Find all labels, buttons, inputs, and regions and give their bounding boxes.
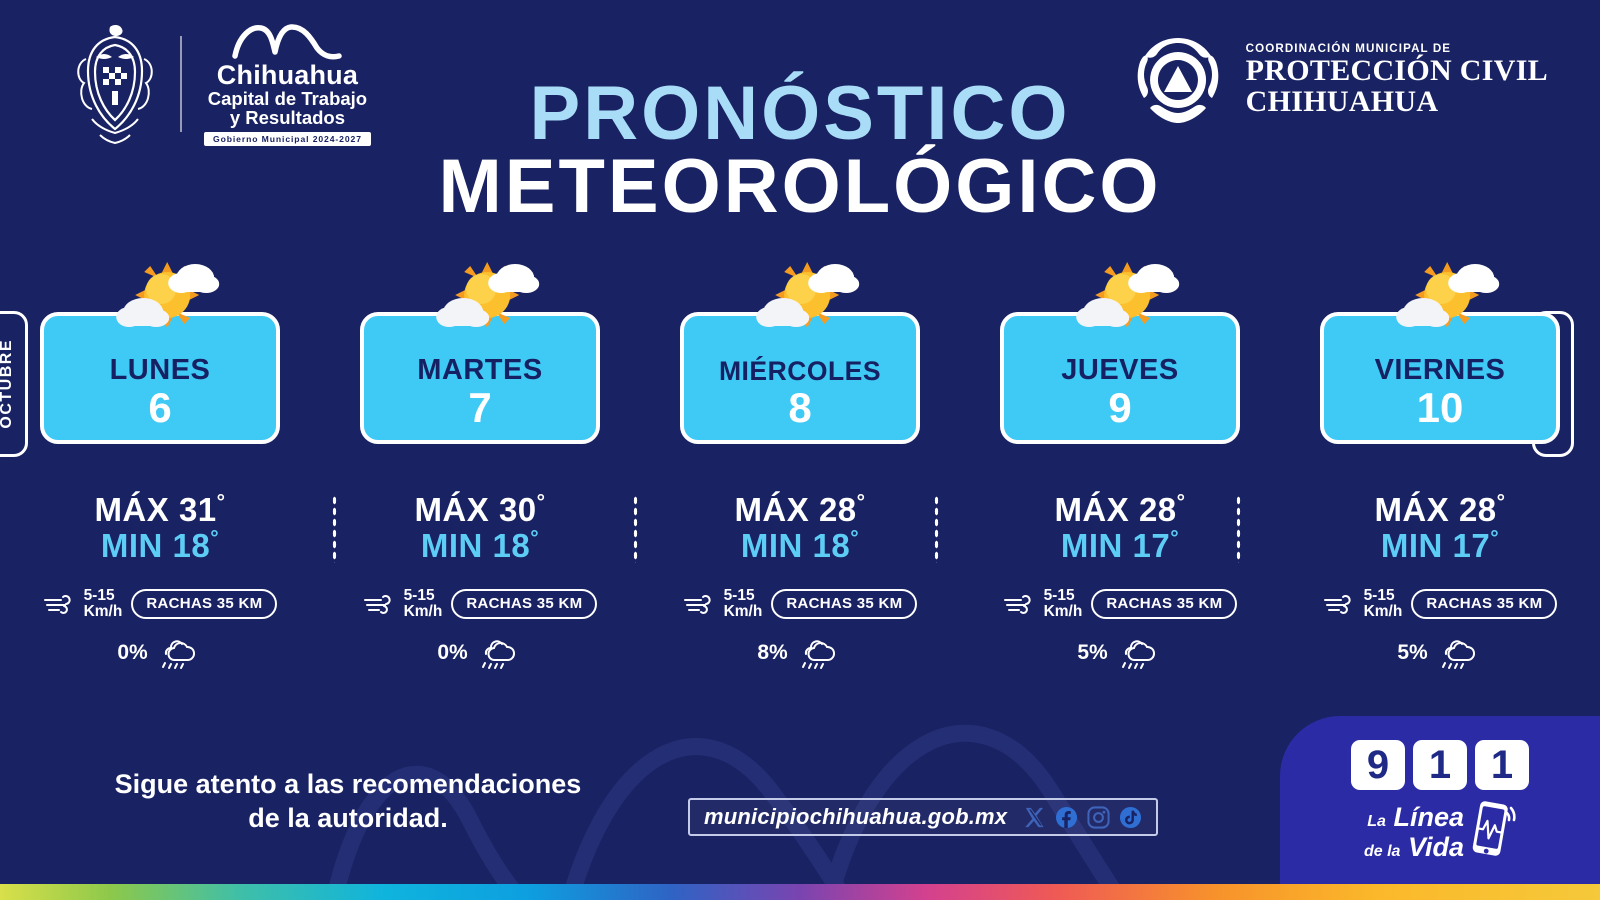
instagram-icon[interactable] bbox=[1087, 806, 1110, 829]
rain-block: 5% bbox=[1077, 636, 1162, 670]
forecast-day-column: MIÉRCOLES 8 MÁX 28° MIN 18° 5-15Km/h bbox=[640, 250, 960, 670]
sun-behind-cloud-icon bbox=[1387, 250, 1507, 346]
title-line-2: METEOROLÓGICO bbox=[0, 151, 1600, 224]
forecast-poster: Chihuahua Capital de Trabajo y Resultado… bbox=[0, 0, 1600, 900]
rain-block: 0% bbox=[117, 636, 202, 670]
max-temp: MÁX 31° bbox=[94, 492, 225, 528]
day-date: 9 bbox=[1108, 386, 1131, 430]
social-icons bbox=[1023, 806, 1142, 829]
day-date: 10 bbox=[1417, 386, 1464, 430]
gust-badge: RACHAS 35 KM bbox=[771, 589, 917, 619]
day-name: MARTES bbox=[417, 356, 542, 385]
emergency-digit: 9 bbox=[1351, 740, 1405, 790]
day-name: MIÉRCOLES bbox=[719, 358, 881, 385]
rain-block: 8% bbox=[757, 636, 842, 670]
page-title: PRONÓSTICO METEOROLÓGICO bbox=[0, 78, 1600, 224]
gust-badge: RACHAS 35 KM bbox=[451, 589, 597, 619]
day-date: 7 bbox=[468, 386, 491, 430]
tiktok-icon[interactable] bbox=[1119, 806, 1142, 829]
min-temp: MIN 17° bbox=[1374, 528, 1505, 564]
sun-behind-cloud-icon bbox=[107, 250, 227, 346]
day-date: 6 bbox=[148, 386, 171, 430]
day-name: VIERNES bbox=[1375, 356, 1506, 385]
gust-badge: RACHAS 35 KM bbox=[1091, 589, 1237, 619]
x-twitter-icon[interactable] bbox=[1023, 806, 1046, 829]
forecast-day-column: LUNES 6 MÁX 31° MIN 18° 5-15Km/h RA bbox=[0, 250, 320, 670]
min-temp: MIN 18° bbox=[94, 528, 225, 564]
forecast-row: LUNES 6 MÁX 31° MIN 18° 5-15Km/h RA bbox=[0, 250, 1600, 670]
rain-chance: 8% bbox=[757, 641, 787, 665]
temperature-block: MÁX 28° MIN 17° bbox=[1054, 492, 1185, 564]
mountain-peaks-icon bbox=[229, 22, 345, 60]
rain-chance: 0% bbox=[437, 641, 467, 665]
rain-chance: 5% bbox=[1397, 641, 1427, 665]
tagline-vida: Vida bbox=[1408, 832, 1464, 862]
max-temp: MÁX 28° bbox=[1054, 492, 1185, 528]
sun-behind-cloud-icon bbox=[427, 250, 547, 346]
wind-icon bbox=[363, 593, 395, 615]
forecast-day-column: JUEVES 9 MÁX 28° MIN 17° 5-15Km/h R bbox=[960, 250, 1280, 670]
emergency-tagline: La Línea de la Vida bbox=[1364, 799, 1516, 861]
wind-speed: 5-15Km/h bbox=[724, 588, 763, 620]
website-bar[interactable]: municipiochihuahua.gob.mx bbox=[688, 798, 1158, 836]
temperature-block: MÁX 28° MIN 18° bbox=[734, 492, 865, 564]
gust-badge: RACHAS 35 KM bbox=[1411, 589, 1557, 619]
sun-behind-cloud-icon bbox=[1067, 250, 1187, 346]
wind-speed: 5-15Km/h bbox=[1044, 588, 1083, 620]
facebook-icon[interactable] bbox=[1055, 806, 1078, 829]
day-name: JUEVES bbox=[1061, 356, 1178, 385]
rain-cloud-icon bbox=[157, 636, 203, 670]
emergency-number: 9 1 1 bbox=[1351, 740, 1529, 790]
wind-block: 5-15Km/h RACHAS 35 KM bbox=[363, 588, 598, 620]
forecast-day-column: MARTES 7 MÁX 30° MIN 18° 5-15Km/h R bbox=[320, 250, 640, 670]
wind-block: 5-15Km/h RACHAS 35 KM bbox=[43, 588, 278, 620]
recommendation-line-1: Sigue atento a las recomendaciones bbox=[78, 768, 618, 802]
rain-cloud-icon bbox=[1437, 636, 1483, 670]
forecast-day-column: VIERNES 10 MÁX 28° MIN 17° 5-15Km/h bbox=[1280, 250, 1600, 670]
wind-icon bbox=[1003, 593, 1035, 615]
temperature-block: MÁX 30° MIN 18° bbox=[414, 492, 545, 564]
min-temp: MIN 18° bbox=[414, 528, 545, 564]
recommendation-message: Sigue atento a las recomendaciones de la… bbox=[78, 768, 618, 836]
emergency-digit: 1 bbox=[1475, 740, 1529, 790]
max-temp: MÁX 28° bbox=[1374, 492, 1505, 528]
day-date: 8 bbox=[788, 386, 811, 430]
rainbow-accent-bar bbox=[0, 884, 1600, 900]
rain-block: 5% bbox=[1397, 636, 1482, 670]
recommendation-line-2: de la autoridad. bbox=[78, 802, 618, 836]
temperature-block: MÁX 31° MIN 18° bbox=[94, 492, 225, 564]
wind-speed: 5-15Km/h bbox=[404, 588, 443, 620]
wind-block: 5-15Km/h RACHAS 35 KM bbox=[1003, 588, 1238, 620]
sun-behind-cloud-icon bbox=[747, 250, 867, 346]
tagline-linea: Línea bbox=[1393, 802, 1464, 832]
wind-icon bbox=[1323, 593, 1355, 615]
wind-block: 5-15Km/h RACHAS 35 KM bbox=[683, 588, 918, 620]
phone-pulse-icon bbox=[1470, 799, 1516, 861]
website-url[interactable]: municipiochihuahua.gob.mx bbox=[704, 804, 1007, 830]
emergency-digit: 1 bbox=[1413, 740, 1467, 790]
tagline-dela: de la bbox=[1364, 843, 1400, 860]
max-temp: MÁX 30° bbox=[414, 492, 545, 528]
emergency-911-panel: 9 1 1 La Línea de la Vida bbox=[1280, 716, 1600, 884]
wind-icon bbox=[683, 593, 715, 615]
min-temp: MIN 17° bbox=[1054, 528, 1185, 564]
min-temp: MIN 18° bbox=[734, 528, 865, 564]
rain-cloud-icon bbox=[477, 636, 523, 670]
wind-speed: 5-15Km/h bbox=[1364, 588, 1403, 620]
wind-speed: 5-15Km/h bbox=[84, 588, 123, 620]
day-name: LUNES bbox=[110, 356, 211, 385]
wind-block: 5-15Km/h RACHAS 35 KM bbox=[1323, 588, 1558, 620]
rain-chance: 0% bbox=[117, 641, 147, 665]
rain-block: 0% bbox=[437, 636, 522, 670]
title-line-1: PRONÓSTICO bbox=[0, 78, 1600, 151]
rain-cloud-icon bbox=[797, 636, 843, 670]
rain-cloud-icon bbox=[1117, 636, 1163, 670]
max-temp: MÁX 28° bbox=[734, 492, 865, 528]
gust-badge: RACHAS 35 KM bbox=[131, 589, 277, 619]
rain-chance: 5% bbox=[1077, 641, 1107, 665]
wind-icon bbox=[43, 593, 75, 615]
temperature-block: MÁX 28° MIN 17° bbox=[1374, 492, 1505, 564]
tagline-la: La bbox=[1367, 813, 1386, 830]
